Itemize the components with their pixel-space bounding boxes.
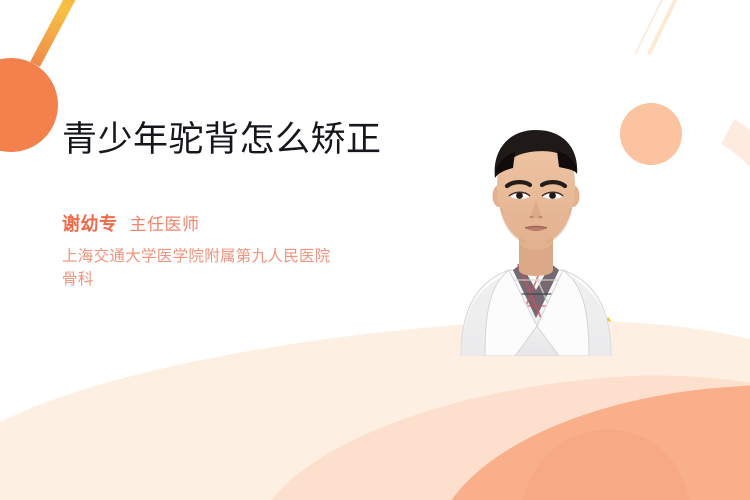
doctor-portrait-image	[455, 112, 617, 356]
diagonal-stripe-thin-icon	[25, 0, 74, 75]
doctor-name: 谢幼专	[62, 210, 118, 236]
text-block: 青少年驼背怎么矫正 谢幼专 主任医师 上海交通大学医学院附属第九人民医院 骨科	[62, 118, 454, 291]
wave-mid-shape	[242, 355, 750, 500]
wave-dark-blob-shape	[520, 430, 690, 500]
diagonal-stripe-thick-icon	[30, 0, 85, 67]
diagonal-stripe-topright-a-icon	[647, 0, 683, 55]
page-title: 青少年驼背怎么矫正	[62, 118, 454, 162]
doctor-info-card: 青少年驼背怎么矫正 谢幼专 主任医师 上海交通大学医学院附属第九人民医院 骨科	[0, 0, 750, 500]
orange-circle-icon	[0, 58, 58, 152]
diagonal-stripe-topright-b-icon	[634, 0, 667, 55]
peach-circle-icon	[620, 103, 682, 165]
wave-dark-shape	[424, 376, 750, 500]
wave-light-shape	[0, 299, 750, 500]
doctor-affiliation: 上海交通大学医学院附属第九人民医院 骨科	[62, 245, 454, 291]
doctor-title: 主任医师	[130, 210, 200, 235]
doctor-byline: 谢幼专 主任医师	[62, 210, 454, 236]
